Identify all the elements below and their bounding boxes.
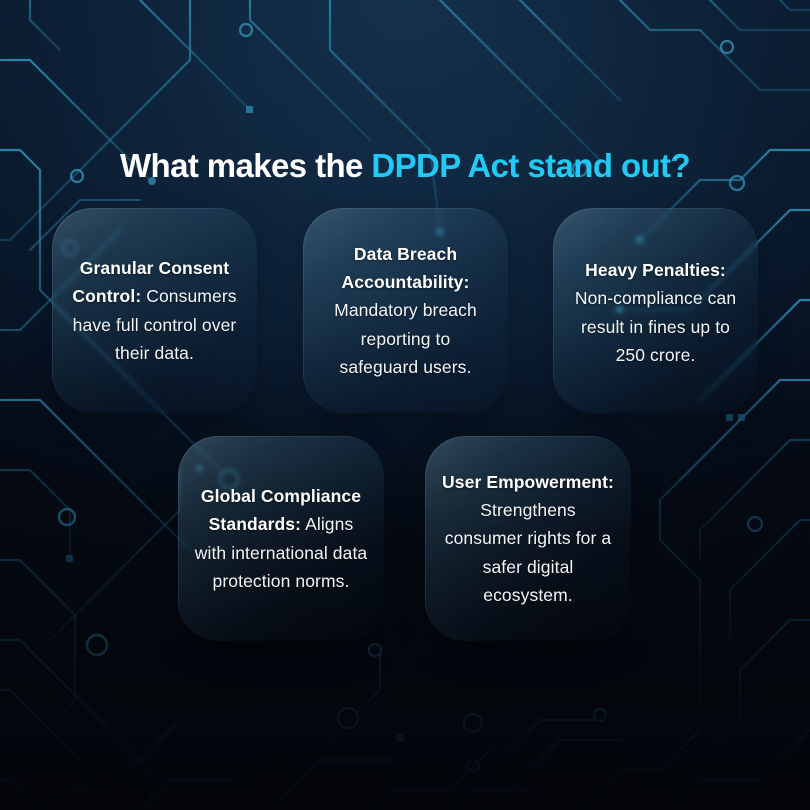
feature-card-global-compliance-standards: Global Compliance Standards: Aligns with…: [178, 436, 384, 641]
feature-card-granular-consent-control: Granular Consent Control: Consumers have…: [52, 208, 257, 413]
feature-card-body: Non-compliance can result in fines up to…: [575, 288, 736, 365]
feature-card-text: Granular Consent Control: Consumers have…: [68, 254, 241, 367]
feature-card-data-breach-accountability: Data Breach Accountability: Mandatory br…: [303, 208, 508, 413]
feature-card-user-empowerment: User Empowerment: Strengthens consumer r…: [425, 436, 631, 641]
feature-card-text: Data Breach Accountability: Mandatory br…: [319, 240, 492, 382]
page-title-accent: DPDP Act stand out?: [371, 147, 690, 184]
feature-card-body: Mandatory breach reporting to safeguard …: [334, 300, 477, 377]
page-title-lead: What makes the: [120, 147, 371, 184]
feature-card-text: User Empowerment: Strengthens consumer r…: [441, 468, 615, 610]
feature-card-heading: Heavy Penalties:: [585, 260, 726, 280]
feature-card-heavy-penalties: Heavy Penalties: Non-compliance can resu…: [553, 208, 758, 413]
feature-card-body: Strengthens consumer rights for a safer …: [445, 500, 611, 605]
headline-container: What makes the DPDP Act stand out?: [0, 146, 810, 186]
infographic-poster: What makes the DPDP Act stand out? Granu…: [0, 0, 810, 810]
feature-card-heading: Data Breach Accountability:: [342, 244, 470, 292]
feature-card-heading: User Empowerment:: [442, 472, 614, 492]
feature-card-text: Global Compliance Standards: Aligns with…: [194, 482, 368, 595]
feature-card-text: Heavy Penalties: Non-compliance can resu…: [569, 256, 742, 369]
page-title: What makes the DPDP Act stand out?: [0, 146, 810, 186]
